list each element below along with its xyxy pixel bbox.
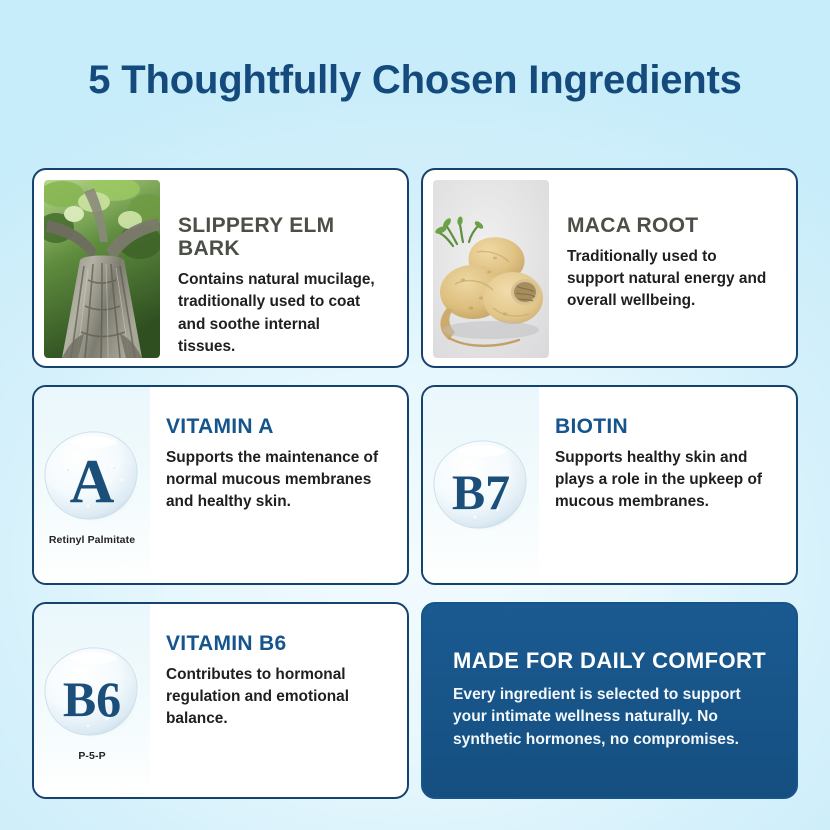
vitamin-b6-media: B6 P-5-P bbox=[34, 604, 150, 797]
card-title: SLIPPERY ELM BARK bbox=[178, 214, 381, 260]
card-body: VITAMIN B6 Contributes to hormonal regul… bbox=[150, 604, 407, 797]
slippery-elm-bark-photo bbox=[44, 180, 160, 358]
page-title: 5 Thoughtfully Chosen Ingredients bbox=[0, 58, 830, 103]
ingredient-cards-grid: SLIPPERY ELM BARK Contains natural mucil… bbox=[32, 168, 798, 799]
card-description: Contains natural mucilage, traditionally… bbox=[178, 269, 381, 358]
card-description: Contributes to hormonal regulation and e… bbox=[166, 664, 393, 731]
biotin-droplet-icon: B7 bbox=[427, 433, 535, 537]
card-body: SLIPPERY ELM BARK Contains natural mucil… bbox=[160, 180, 397, 368]
card-title: VITAMIN B6 bbox=[166, 632, 393, 655]
biotin-media: B7 bbox=[423, 387, 539, 583]
maca-root-photo bbox=[433, 180, 549, 358]
vitamin-b6-droplet-icon: B6 bbox=[38, 640, 146, 744]
ingredient-card-biotin[interactable]: B7 BIOTIN Supports healthy skin and play… bbox=[421, 385, 798, 585]
svg-text:B6: B6 bbox=[63, 671, 121, 727]
card-body: MACA ROOT Traditionally used to support … bbox=[549, 180, 786, 323]
vitamin-a-media: A Retinyl Palmitate bbox=[34, 387, 150, 583]
ingredient-card-maca-root[interactable]: MACA ROOT Traditionally used to support … bbox=[421, 168, 798, 368]
highlight-card-made-for-daily-comfort[interactable]: MADE FOR DAILY COMFORT Every ingredient … bbox=[421, 602, 798, 799]
card-title: MACA ROOT bbox=[567, 214, 770, 237]
card-title: VITAMIN A bbox=[166, 415, 393, 438]
ingredient-card-vitamin-b6[interactable]: B6 P-5-P VITAMIN B6 Contributes to hormo… bbox=[32, 602, 409, 799]
bubble-caption: P-5-P bbox=[78, 750, 105, 762]
ingredient-card-vitamin-a[interactable]: A Retinyl Palmitate VITAMIN A Supports t… bbox=[32, 385, 409, 585]
vitamin-a-droplet-icon: A bbox=[38, 424, 146, 528]
card-description: Supports healthy skin and plays a role i… bbox=[555, 447, 782, 514]
card-description: Traditionally used to support natural en… bbox=[567, 246, 770, 313]
ingredient-card-slippery-elm-bark[interactable]: SLIPPERY ELM BARK Contains natural mucil… bbox=[32, 168, 409, 368]
bubble-caption: Retinyl Palmitate bbox=[49, 534, 135, 546]
card-description: Supports the maintenance of normal mucou… bbox=[166, 447, 393, 514]
card-body: BIOTIN Supports healthy skin and plays a… bbox=[539, 387, 796, 583]
card-body: VITAMIN A Supports the maintenance of no… bbox=[150, 387, 407, 583]
card-title: BIOTIN bbox=[555, 415, 782, 438]
card-body: MADE FOR DAILY COMFORT Every ingredient … bbox=[423, 649, 796, 751]
card-title: MADE FOR DAILY COMFORT bbox=[453, 649, 770, 673]
card-description: Every ingredient is selected to support … bbox=[453, 684, 770, 752]
svg-text:A: A bbox=[70, 448, 115, 516]
svg-text:B7: B7 bbox=[452, 464, 510, 520]
